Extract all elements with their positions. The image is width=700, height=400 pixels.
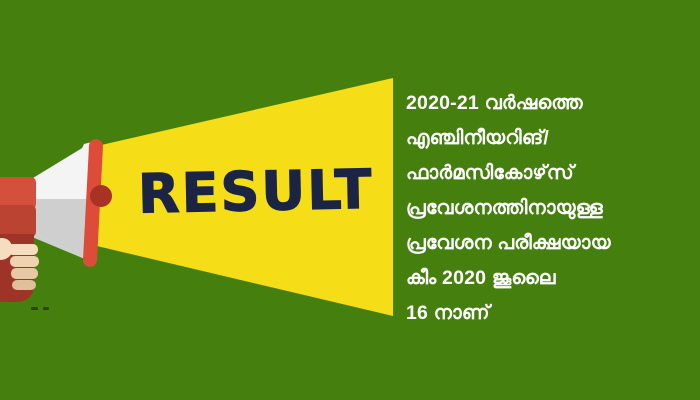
speckle-artifact-1 <box>31 307 38 310</box>
announcement-line-1: 2020-21 വർഷത്തെ <box>406 86 694 121</box>
announcement-line-2: എഞ്ചിനീയറിങ്/ <box>406 121 694 156</box>
megaphone-body-shadow <box>0 205 36 237</box>
megaphone-body <box>0 177 36 209</box>
announcement-line-3: ഫാർമസികോഴ്‌സ് <box>406 156 694 191</box>
announcement-line-6: കീം 2020 ജൂലൈ <box>406 261 694 296</box>
announcement-text: 2020-21 വർഷത്തെ എഞ്ചിനീയറിങ്/ ഫാർമസികോഴ്… <box>406 86 694 331</box>
result-headline: RESULT <box>137 149 389 234</box>
announcement-line-4: പ്രവേശനത്തിനായുള്ള <box>406 191 694 226</box>
announcement-line-7: 16 നാണ് <box>406 296 694 331</box>
result-announcement-banner: RESULT 2020-21 വർഷത്തെ എഞ്ചിനീയറിങ്/ ഫാർ… <box>0 0 700 400</box>
speckle-artifact-2 <box>43 307 49 310</box>
announcement-line-5: പ്രവേശന പരീക്ഷയായ <box>406 226 694 261</box>
megaphone-knob <box>90 185 112 207</box>
